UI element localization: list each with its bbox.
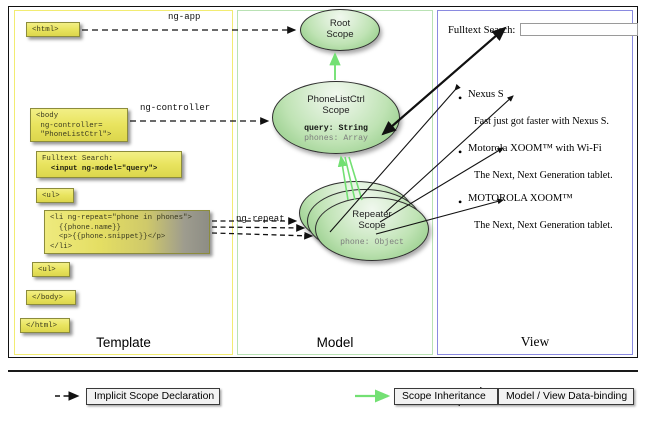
phonelist-scope-line2: Scope	[273, 105, 399, 116]
edge-label-ng-app: ng-app	[168, 12, 200, 22]
repeater-scope-prop-phone: phone: Object	[316, 238, 428, 248]
input-snippet-bold: <input ng-model="query">	[42, 165, 157, 173]
edge-label-ng-controller: ng-controller	[140, 103, 210, 113]
template-box-li-repeat-snippet: <li ng-repeat="phone in phones"> {{phone…	[44, 210, 210, 254]
view-bullet-icon: •	[458, 93, 462, 103]
view-bullet-icon: •	[458, 197, 462, 207]
repeater-scope-line2: Scope	[316, 220, 428, 231]
root-scope-line2: Scope	[301, 29, 379, 40]
template-box-ul-close-tag: <ul>	[32, 262, 70, 277]
view-item-title-1: Motorola XOOM™ with Wi-Fi	[468, 143, 602, 154]
panel-model-label: Model	[238, 335, 432, 350]
template-box-html-close-tag: </html>	[20, 318, 70, 333]
phonelist-scope-prop-phones: phones: Array	[273, 134, 399, 144]
input-snippet-plain: Fulltext Search:	[42, 155, 113, 163]
view-search-input[interactable]	[520, 23, 638, 36]
legend-item-model-view-data-binding: Model / View Data-binding	[498, 388, 634, 405]
view-item-snippet-1: The Next, Next Generation tablet.	[474, 170, 613, 181]
legend-item-scope-inheritance: Scope Inheritance	[394, 388, 498, 405]
scope-ellipse-root: Root Scope	[300, 9, 380, 51]
legend-divider	[8, 370, 638, 372]
view-item-title-0: Nexus S	[468, 89, 504, 100]
template-box-body-close-tag: </body>	[26, 290, 76, 305]
view-content: Fulltext Search: • Nexus S Fast just got…	[438, 11, 632, 354]
repeater-scope-line1: Repeater	[316, 209, 428, 220]
legend-item-implicit-scope-declaration: Implicit Scope Declaration	[86, 388, 220, 405]
template-box-ul-open-tag: <ul>	[36, 188, 74, 203]
panel-template-label: Template	[15, 335, 232, 350]
panel-view: Fulltext Search: • Nexus S Fast just got…	[437, 10, 633, 355]
view-bullet-icon: •	[458, 147, 462, 157]
edge-label-ng-repeat: ng-repeat	[236, 214, 285, 224]
diagram-canvas: Template <html> <body ng-controller= "Ph…	[0, 0, 645, 425]
view-item-snippet-2: The Next, Next Generation tablet.	[474, 220, 613, 231]
template-box-html-open-tag: <html>	[26, 22, 80, 37]
phonelist-scope-line1: PhoneListCtrl	[273, 94, 399, 105]
phonelist-scope-prop-query: query: String	[273, 124, 399, 134]
template-box-input-snippet: Fulltext Search: <input ng-model="query"…	[36, 151, 182, 178]
scope-ellipse-phonelistctrl: PhoneListCtrl Scope query: String phones…	[272, 81, 400, 154]
view-search-label: Fulltext Search:	[448, 25, 515, 36]
scope-ellipse-repeater: Repeater Scope phone: Object	[315, 197, 429, 261]
template-box-body-open-tag: <body ng-controller= "PhoneListCtrl">	[30, 108, 128, 142]
view-item-title-2: MOTOROLA XOOM™	[468, 193, 573, 204]
view-item-snippet-0: Fast just got faster with Nexus S.	[474, 116, 609, 127]
panel-view-label: View	[438, 334, 632, 350]
root-scope-line1: Root	[301, 18, 379, 29]
